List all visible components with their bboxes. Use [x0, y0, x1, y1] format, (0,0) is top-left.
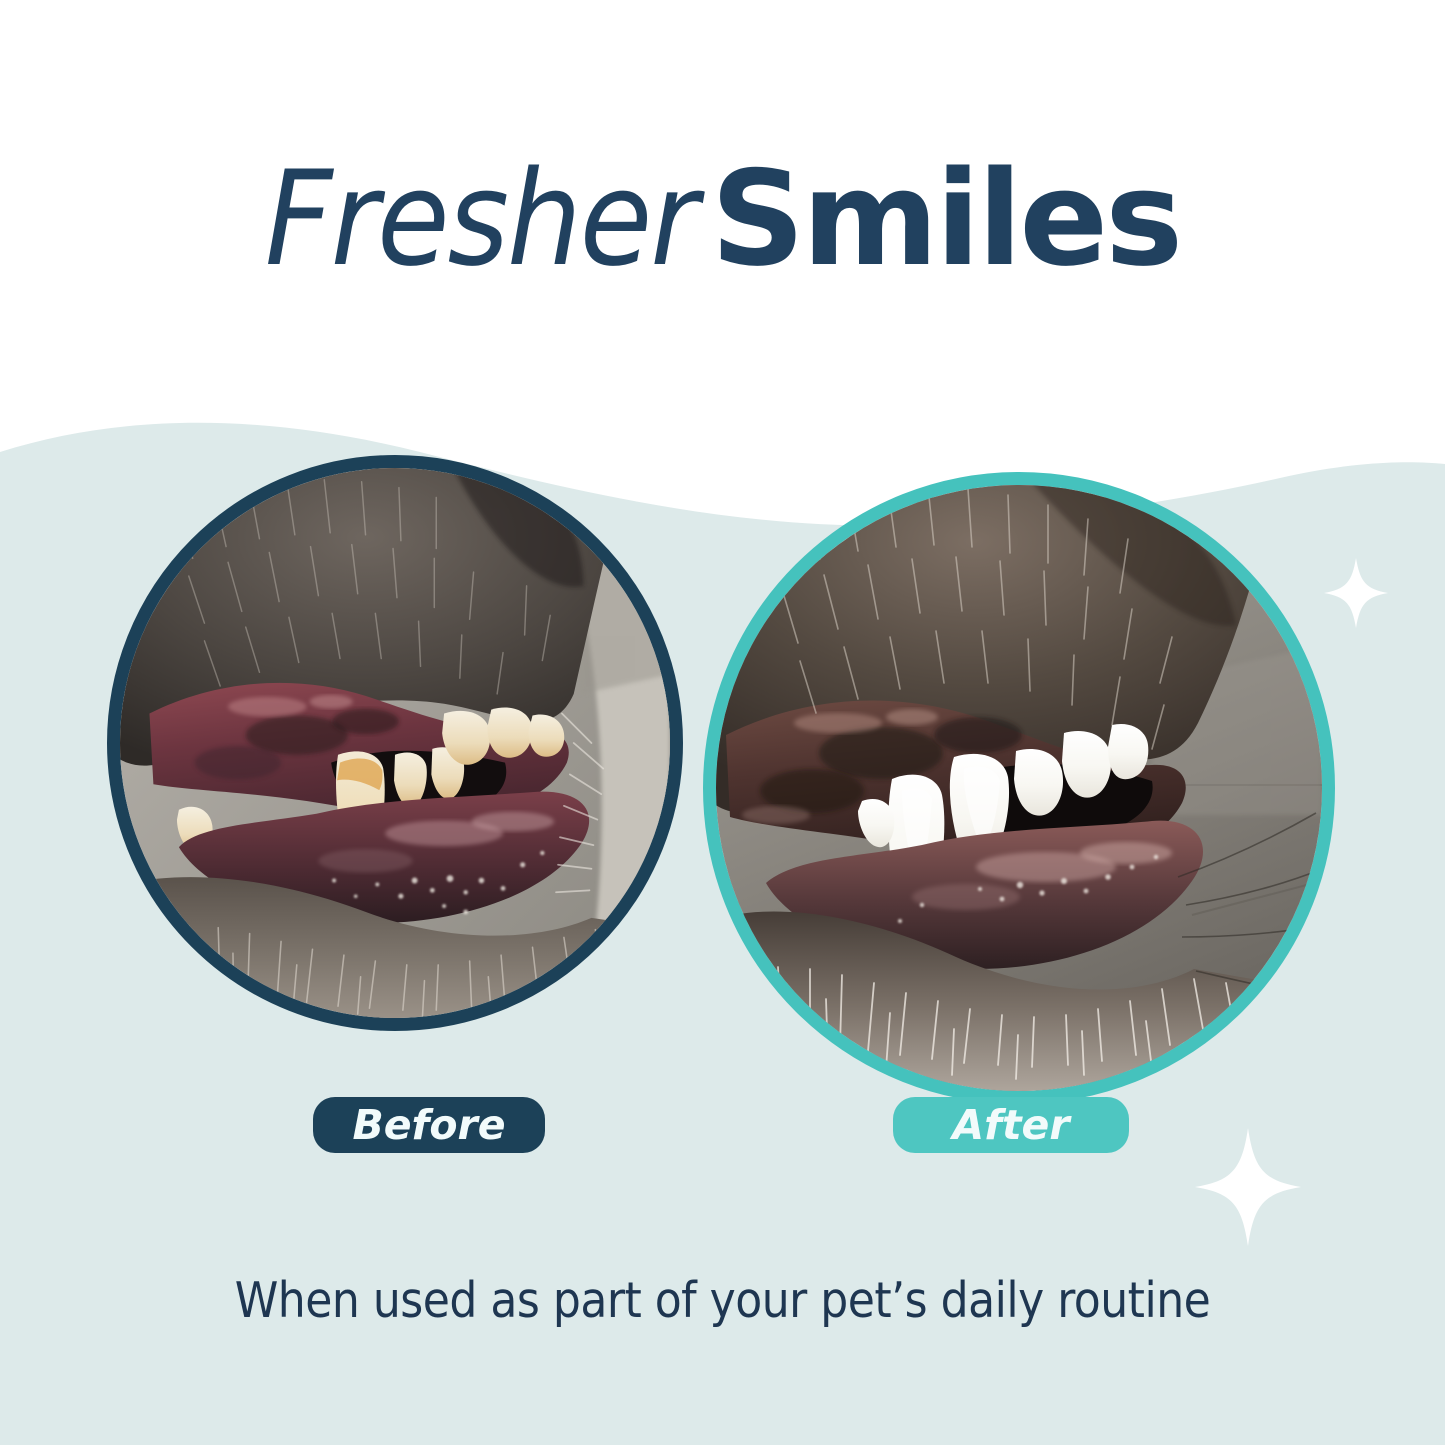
badge-after-label: After	[952, 1101, 1069, 1149]
badge-after: After	[893, 1097, 1129, 1153]
before-photo	[120, 468, 670, 1018]
sparkle-icon-large	[1192, 1125, 1304, 1249]
after-photo-circle	[703, 472, 1335, 1104]
sparkle-icon-small	[1322, 556, 1390, 630]
page-title: FresherSmiles	[0, 150, 1445, 288]
before-photo-circle	[107, 455, 683, 1031]
promo-banner: FresherSmiles	[0, 0, 1445, 1445]
after-photo	[716, 485, 1322, 1091]
badge-before-label: Before	[352, 1101, 505, 1149]
badge-before: Before	[313, 1097, 545, 1153]
caption-text: When used as part of your pet’s daily ro…	[0, 1272, 1445, 1329]
headline-word-bold: Smiles	[711, 142, 1180, 295]
headline-word-light: Fresher	[265, 142, 697, 295]
